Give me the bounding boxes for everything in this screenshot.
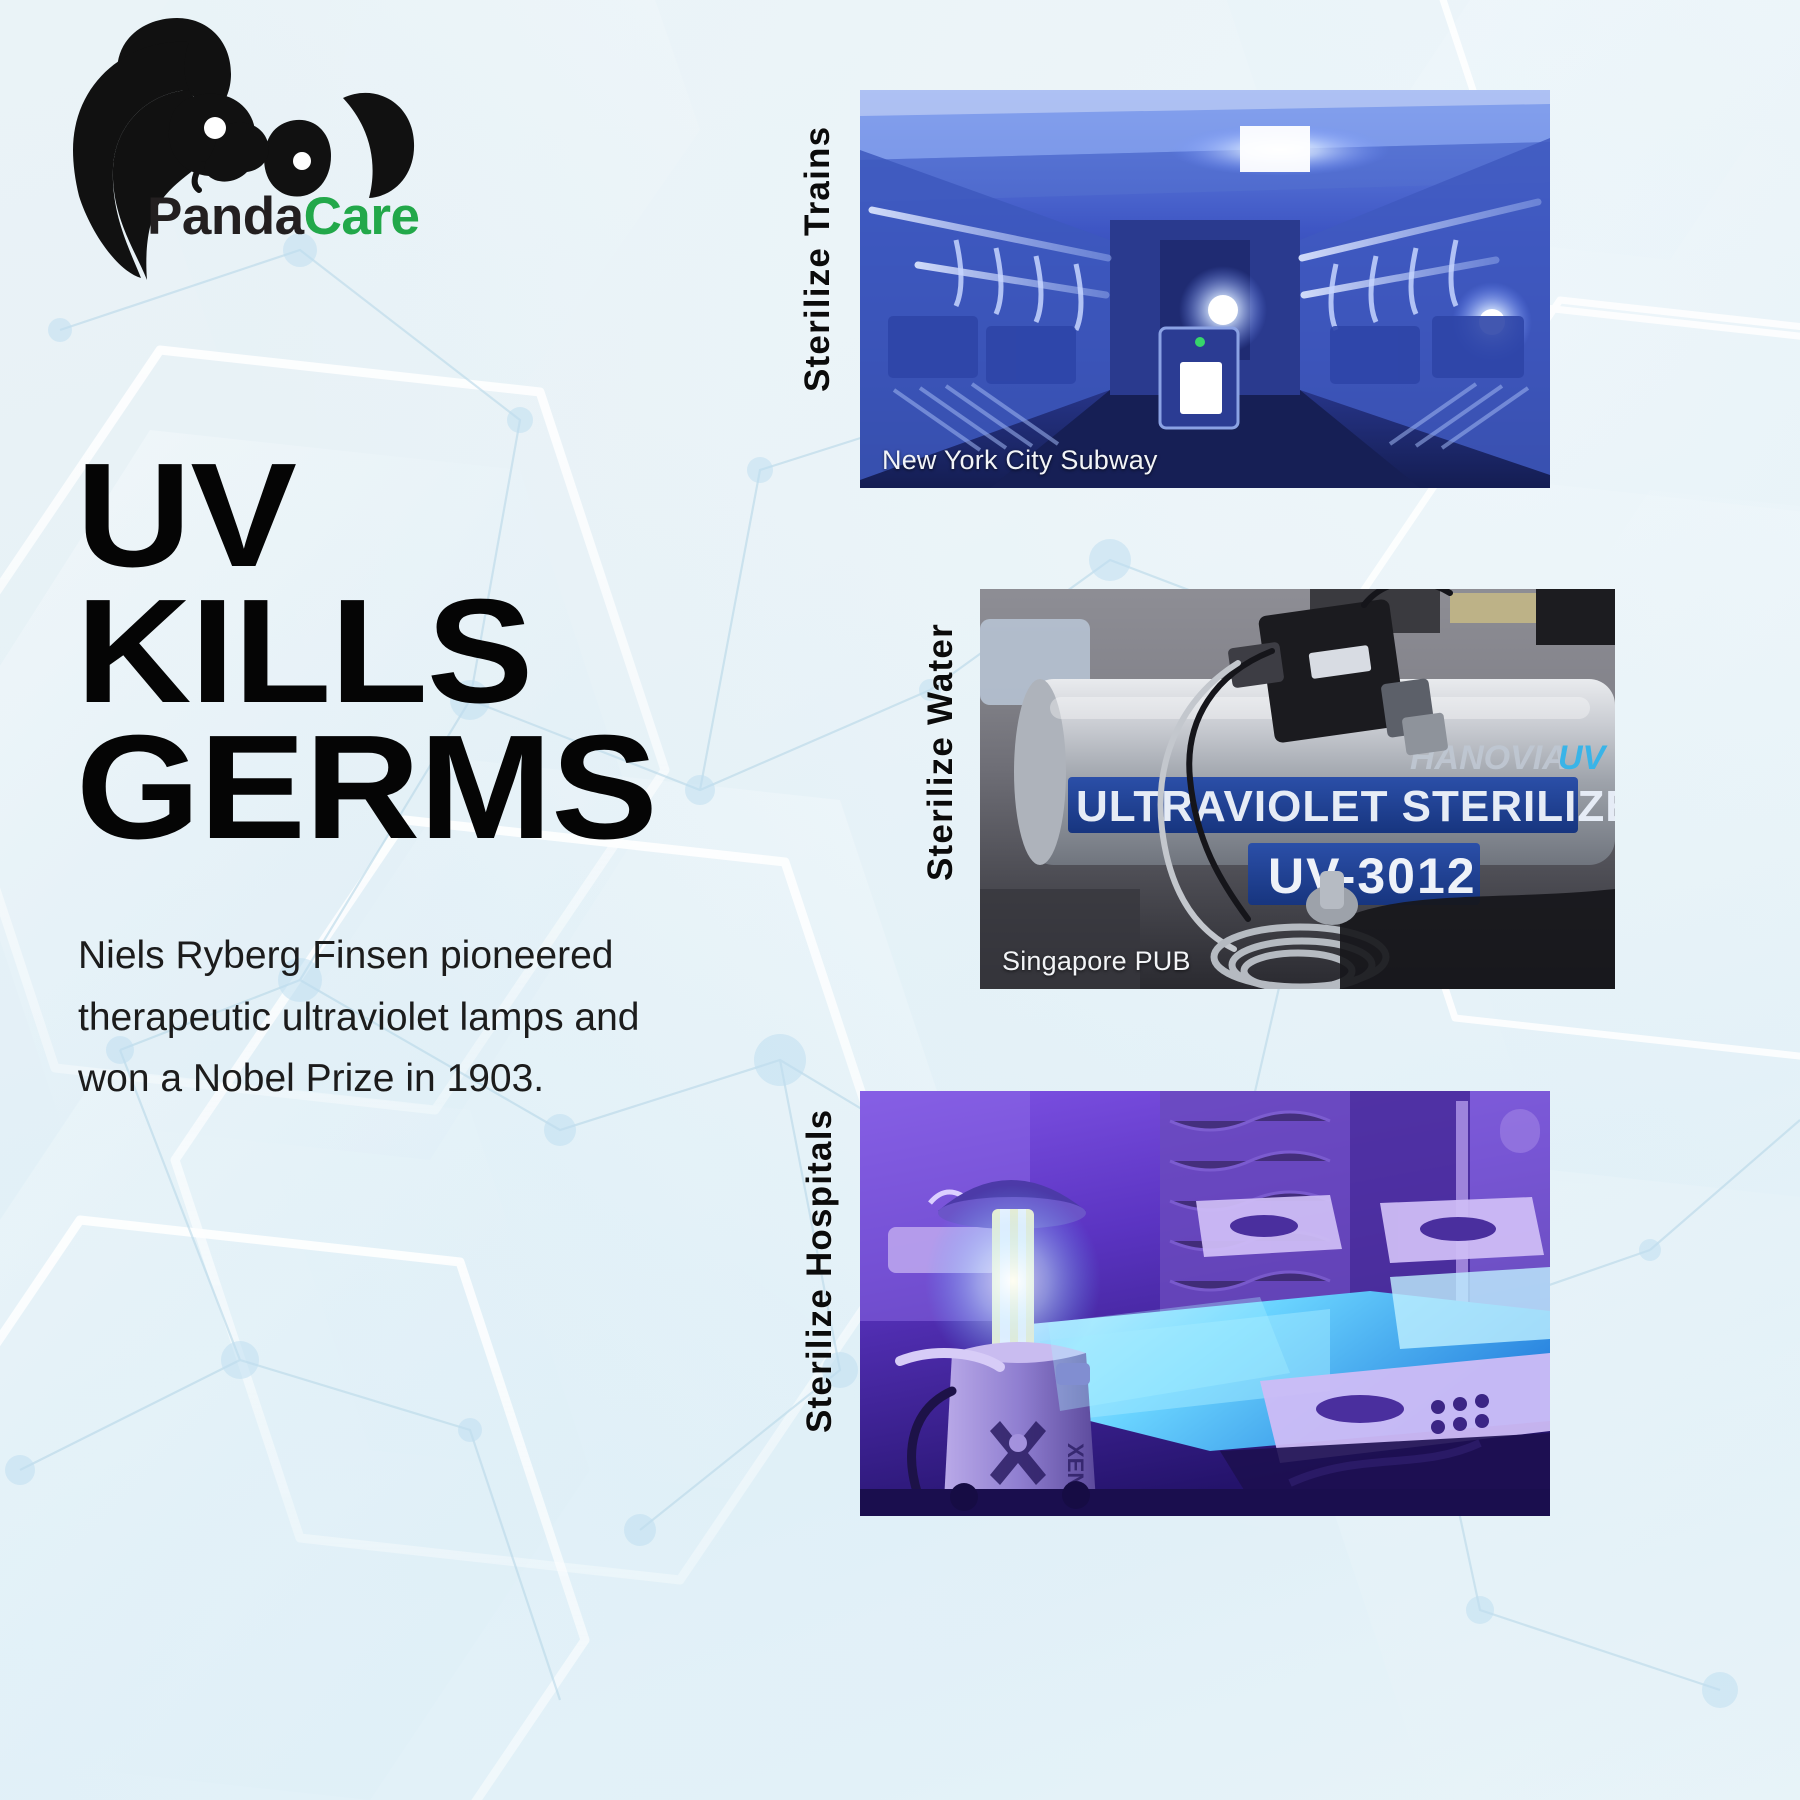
body-paragraph: Niels Ryberg Finsen pioneered therapeuti… bbox=[78, 925, 758, 1110]
photo-water-sterilizer: HANOVIA UV ULTRAVIOLET STERILIZER UV-301… bbox=[980, 589, 1615, 989]
card-sterilize-water: Sterilize Water bbox=[915, 575, 1615, 995]
brand-name-part1: Panda bbox=[147, 187, 304, 246]
headline-line-2: KILLS bbox=[76, 584, 657, 720]
card-label-trains: Sterilize Trains bbox=[798, 102, 838, 392]
paragraph-line-3: won a Nobel Prize in 1903. bbox=[78, 1048, 758, 1110]
headline-line-3: GERMS bbox=[76, 720, 657, 856]
photo-caption-trains: New York City Subway bbox=[882, 445, 1158, 476]
card-label-hospitals: Sterilize Hospitals bbox=[800, 1103, 840, 1433]
photo-subway: New York City Subway bbox=[860, 90, 1550, 488]
paragraph-line-1: Niels Ryberg Finsen pioneered bbox=[78, 925, 758, 987]
photo-hospital-uv-robot: XENEX bbox=[860, 1091, 1550, 1516]
page-title: UV KILLS GERMS bbox=[76, 448, 657, 856]
card-sterilize-trains: Sterilize Trains bbox=[790, 78, 1550, 498]
card-sterilize-hospitals: Sterilize Hospitals bbox=[790, 1085, 1550, 1515]
svg-text:UV-3012: UV-3012 bbox=[1268, 848, 1477, 904]
brand-logo[interactable]: PandaCare bbox=[55, 18, 435, 283]
photo-caption-water: Singapore PUB bbox=[1002, 946, 1191, 977]
paragraph-line-2: therapeutic ultraviolet lamps and bbox=[78, 987, 758, 1049]
headline-line-1: UV bbox=[76, 448, 657, 584]
infographic-canvas: PandaCare UV KILLS GERMS Niels Ryberg Fi… bbox=[0, 0, 1800, 1800]
svg-text:UV: UV bbox=[1558, 739, 1609, 777]
brand-wordmark: PandaCare bbox=[147, 190, 419, 243]
card-label-water: Sterilize Water bbox=[921, 591, 961, 881]
svg-text:ULTRAVIOLET STERILIZER: ULTRAVIOLET STERILIZER bbox=[1076, 782, 1615, 831]
brand-name-part2: Care bbox=[304, 187, 420, 246]
